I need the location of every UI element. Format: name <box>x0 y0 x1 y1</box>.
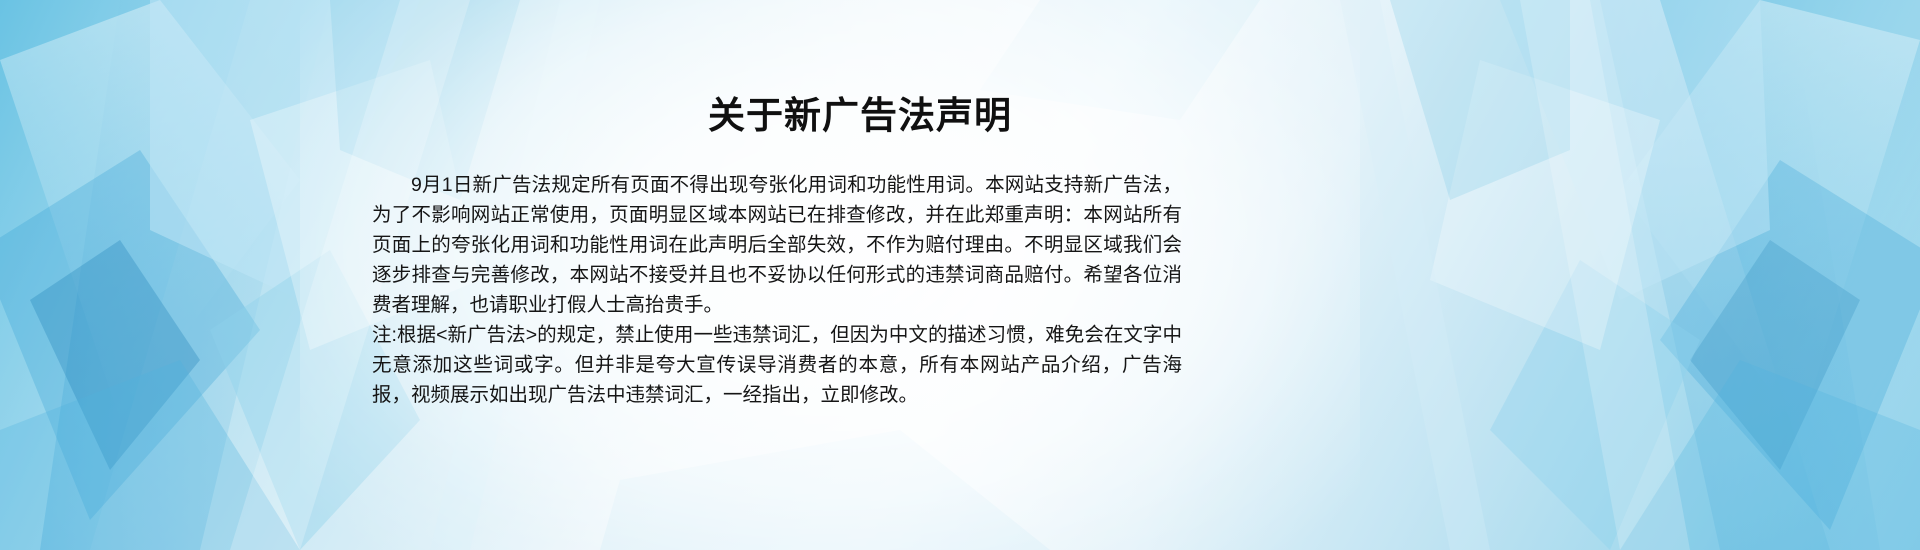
notice-body: 9月1日新广告法规定所有页面不得出现夸张化用词和功能性用词。本网站支持新广告法，… <box>372 170 1182 410</box>
notice-paragraph-main: 9月1日新广告法规定所有页面不得出现夸张化用词和功能性用词。本网站支持新广告法，… <box>372 170 1182 320</box>
notice-paragraph-note: 注:根据<新广告法>的规定，禁止使用一些违禁词汇，但因为中文的描述习惯，难免会在… <box>372 320 1182 410</box>
notice-banner: 关于新广告法声明 9月1日新广告法规定所有页面不得出现夸张化用词和功能性用词。本… <box>0 0 1920 550</box>
notice-content: 关于新广告法声明 9月1日新广告法规定所有页面不得出现夸张化用词和功能性用词。本… <box>0 0 1920 550</box>
page-title: 关于新广告法声明 <box>360 92 1360 140</box>
